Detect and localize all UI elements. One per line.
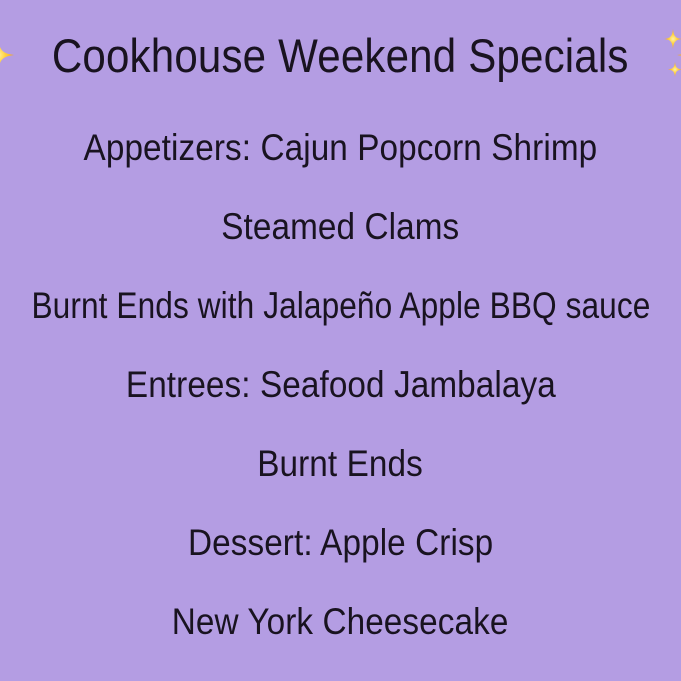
menu-line: New York Cheesecake [0,582,681,661]
sparkles-icon [0,26,20,84]
menu-line: Dessert: Apple Crisp [0,503,681,582]
menu-line: Appetizers: Cajun Popcorn Shrimp [0,108,681,187]
menu-line-text: Burnt Ends [258,445,424,482]
menu-line: Burnt Ends with Jalapeño Apple BBQ sauce [0,266,681,345]
page-title: Cookhouse Weekend Specials [52,32,629,79]
menu-line-text: New York Cheesecake [172,603,509,640]
menu-line: Entrees: Seafood Jambalaya [0,345,681,424]
sparkles-icon [661,26,681,84]
menu-line: Steamed Clams [0,187,681,266]
menu-line-text: Appetizers: Cajun Popcorn Shrimp [84,129,598,166]
menu-line-text: Burnt Ends with Jalapeño Apple BBQ sauce [31,287,650,324]
menu-line: Burnt Ends [0,424,681,503]
menu-line-text: Dessert: Apple Crisp [188,524,493,561]
menu-line-text: Steamed Clams [221,208,459,245]
poster-header: Cookhouse Weekend Specials [0,17,681,93]
menu-line-text: Entrees: Seafood Jambalaya [126,366,556,403]
specials-poster: Cookhouse Weekend Specials Appetizers: C… [0,0,681,681]
specials-menu-list: Appetizers: Cajun Popcorn Shrimp Steamed… [0,108,681,661]
